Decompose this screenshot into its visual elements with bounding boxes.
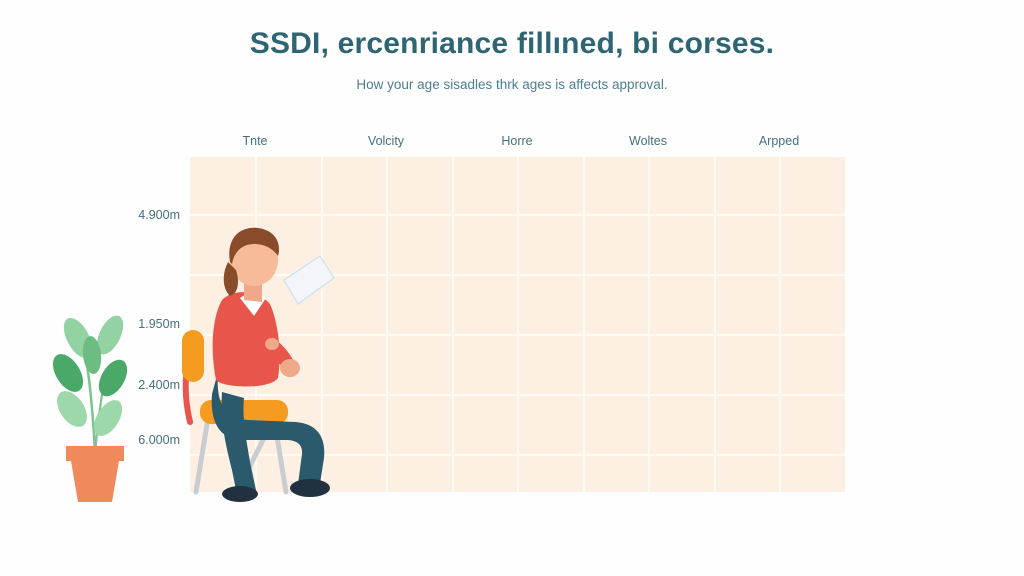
- gridline-vertical: [779, 157, 781, 492]
- y-tick-label-3: 6.000m: [138, 433, 180, 447]
- gridline-vertical: [386, 157, 388, 492]
- column-header-2: Horre: [501, 134, 532, 148]
- gridline-vertical: [714, 157, 716, 492]
- chart-canvas: SSDI, ercenriance fillıned, bi corses. H…: [0, 0, 1024, 576]
- potted-plant-illustration: [46, 303, 144, 503]
- column-header-3: Woltes: [629, 134, 667, 148]
- column-header-4: Arpped: [759, 134, 799, 148]
- y-tick-label-2: 2.400m: [138, 378, 180, 392]
- gridline-vertical: [452, 157, 454, 492]
- gridline-horizontal: [190, 214, 845, 216]
- column-header-0: Tnte: [242, 134, 267, 148]
- y-tick-label-1: 1.950m: [138, 317, 180, 331]
- gridline-vertical: [648, 157, 650, 492]
- y-tick-label-0: 4.900m: [138, 208, 180, 222]
- gridline-vertical: [583, 157, 585, 492]
- gridline-vertical: [517, 157, 519, 492]
- column-header-1: Volcity: [368, 134, 404, 148]
- seated-person-illustration: [178, 222, 358, 504]
